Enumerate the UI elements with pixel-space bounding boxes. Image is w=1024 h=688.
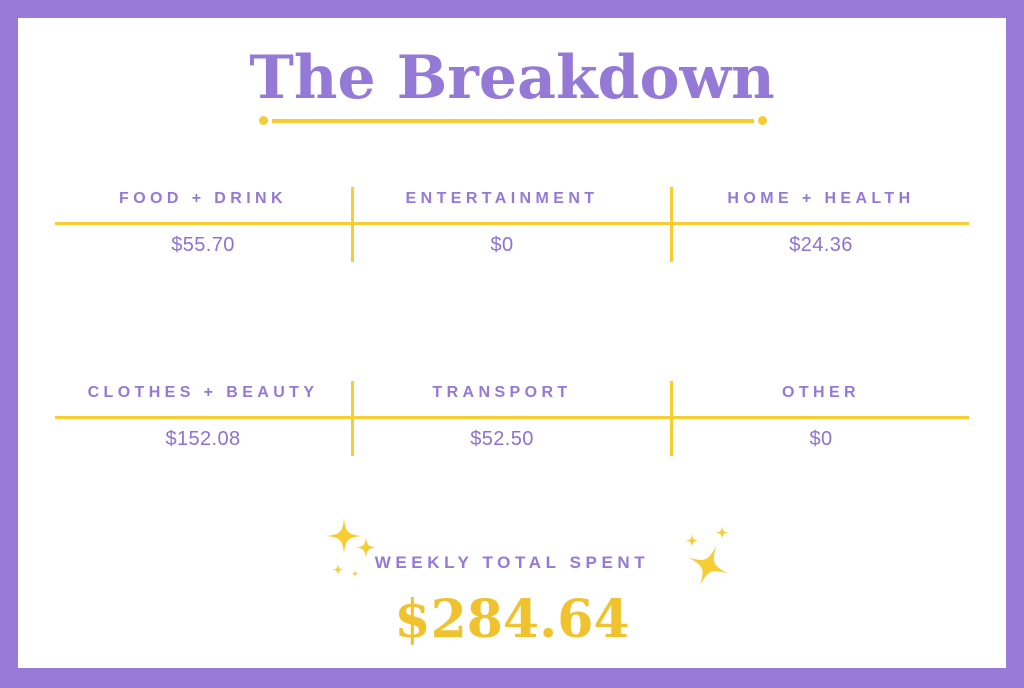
category-value: $52.50 — [354, 428, 650, 451]
breakdown-card: The Breakdown FOOD + DRINK $55.70 ENTERT… — [18, 18, 1006, 668]
category-value: $152.08 — [55, 428, 351, 451]
title-block: The Breakdown — [18, 44, 1006, 112]
title-divider — [259, 115, 767, 127]
total-label-row: WEEKLY TOTAL SPENT — [18, 546, 1006, 580]
weekly-total-label: WEEKLY TOTAL SPENT — [375, 553, 650, 573]
category-row: FOOD + DRINK $55.70 ENTERTAINMENT $0 HOM… — [55, 186, 969, 276]
page-title: The Breakdown — [18, 44, 1006, 112]
category-cell: OTHER $0 — [673, 380, 969, 470]
category-label: OTHER — [673, 384, 969, 402]
category-value: $0 — [673, 428, 969, 451]
divider-line — [272, 119, 754, 123]
category-label: TRANSPORT — [354, 384, 650, 402]
category-cell: HOME + HEALTH $24.36 — [673, 186, 969, 276]
category-label: ENTERTAINMENT — [354, 190, 650, 208]
divider-dot-left-icon — [259, 116, 268, 125]
weekly-total-block: WEEKLY TOTAL SPENT $284.64 — [18, 518, 1006, 658]
category-cell: TRANSPORT $52.50 — [354, 380, 650, 470]
category-value: $0 — [354, 234, 650, 257]
category-cell: FOOD + DRINK $55.70 — [55, 186, 351, 276]
category-cell: CLOTHES + BEAUTY $152.08 — [55, 380, 351, 470]
category-row: CLOTHES + BEAUTY $152.08 TRANSPORT $52.5… — [55, 380, 969, 470]
category-label: CLOTHES + BEAUTY — [55, 384, 351, 402]
category-label: HOME + HEALTH — [673, 190, 969, 208]
weekly-total-amount: $284.64 — [18, 590, 1006, 650]
category-cell: ENTERTAINMENT $0 — [354, 186, 650, 276]
category-value: $24.36 — [673, 234, 969, 257]
category-label: FOOD + DRINK — [55, 190, 351, 208]
divider-dot-right-icon — [758, 116, 767, 125]
category-value: $55.70 — [55, 234, 351, 257]
